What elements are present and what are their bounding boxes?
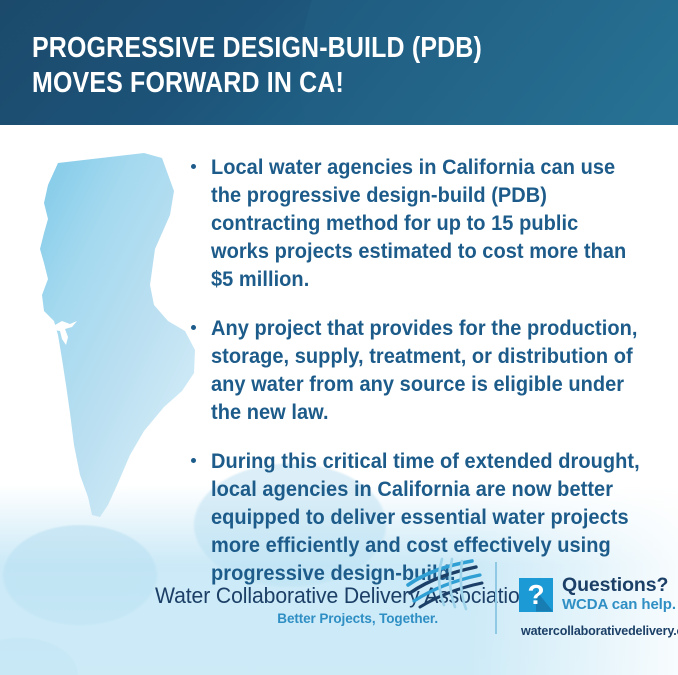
question-mark-glyph: ? (527, 580, 544, 610)
bullet-list: Local water agencies in California can u… (188, 153, 640, 587)
page-title: PROGRESSIVE DESIGN-BUILD (PDB) MOVES FOR… (32, 31, 555, 101)
bullet-dot-icon (191, 458, 196, 463)
questions-title: Questions? (562, 575, 676, 595)
infographic-poster: PROGRESSIVE DESIGN-BUILD (PDB) MOVES FOR… (0, 0, 678, 675)
bullet-text: Local water agencies in California can u… (211, 153, 640, 293)
water-waves-logo-icon (398, 557, 484, 619)
list-item: Any project that provides for the produc… (188, 314, 640, 426)
bullet-dot-icon (191, 325, 196, 330)
questions-help-block[interactable]: ? Questions? WCDA can help. watercollabo… (519, 575, 678, 638)
list-item: Local water agencies in California can u… (188, 153, 640, 293)
question-mark-icon: ? (519, 578, 553, 612)
footer-divider (495, 562, 497, 634)
california-map-icon (22, 145, 197, 560)
page-title-line-2: MOVES FORWARD IN CA! (32, 66, 482, 101)
page-title-line-1: PROGRESSIVE DESIGN-BUILD (PDB) (32, 31, 482, 66)
header-banner: PROGRESSIVE DESIGN-BUILD (PDB) MOVES FOR… (0, 0, 678, 125)
footer-bar: Water Collaborative Delivery Association… (0, 557, 678, 667)
questions-subtitle: WCDA can help. (562, 596, 676, 614)
bullet-dot-icon (191, 164, 196, 169)
body-content: Local water agencies in California can u… (0, 125, 678, 675)
contact-url-link[interactable]: watercollaborativedelivery.org/contact (521, 624, 678, 638)
logo-tagline: Better Projects, Together. (155, 611, 438, 626)
bullet-text: Any project that provides for the produc… (211, 314, 640, 426)
